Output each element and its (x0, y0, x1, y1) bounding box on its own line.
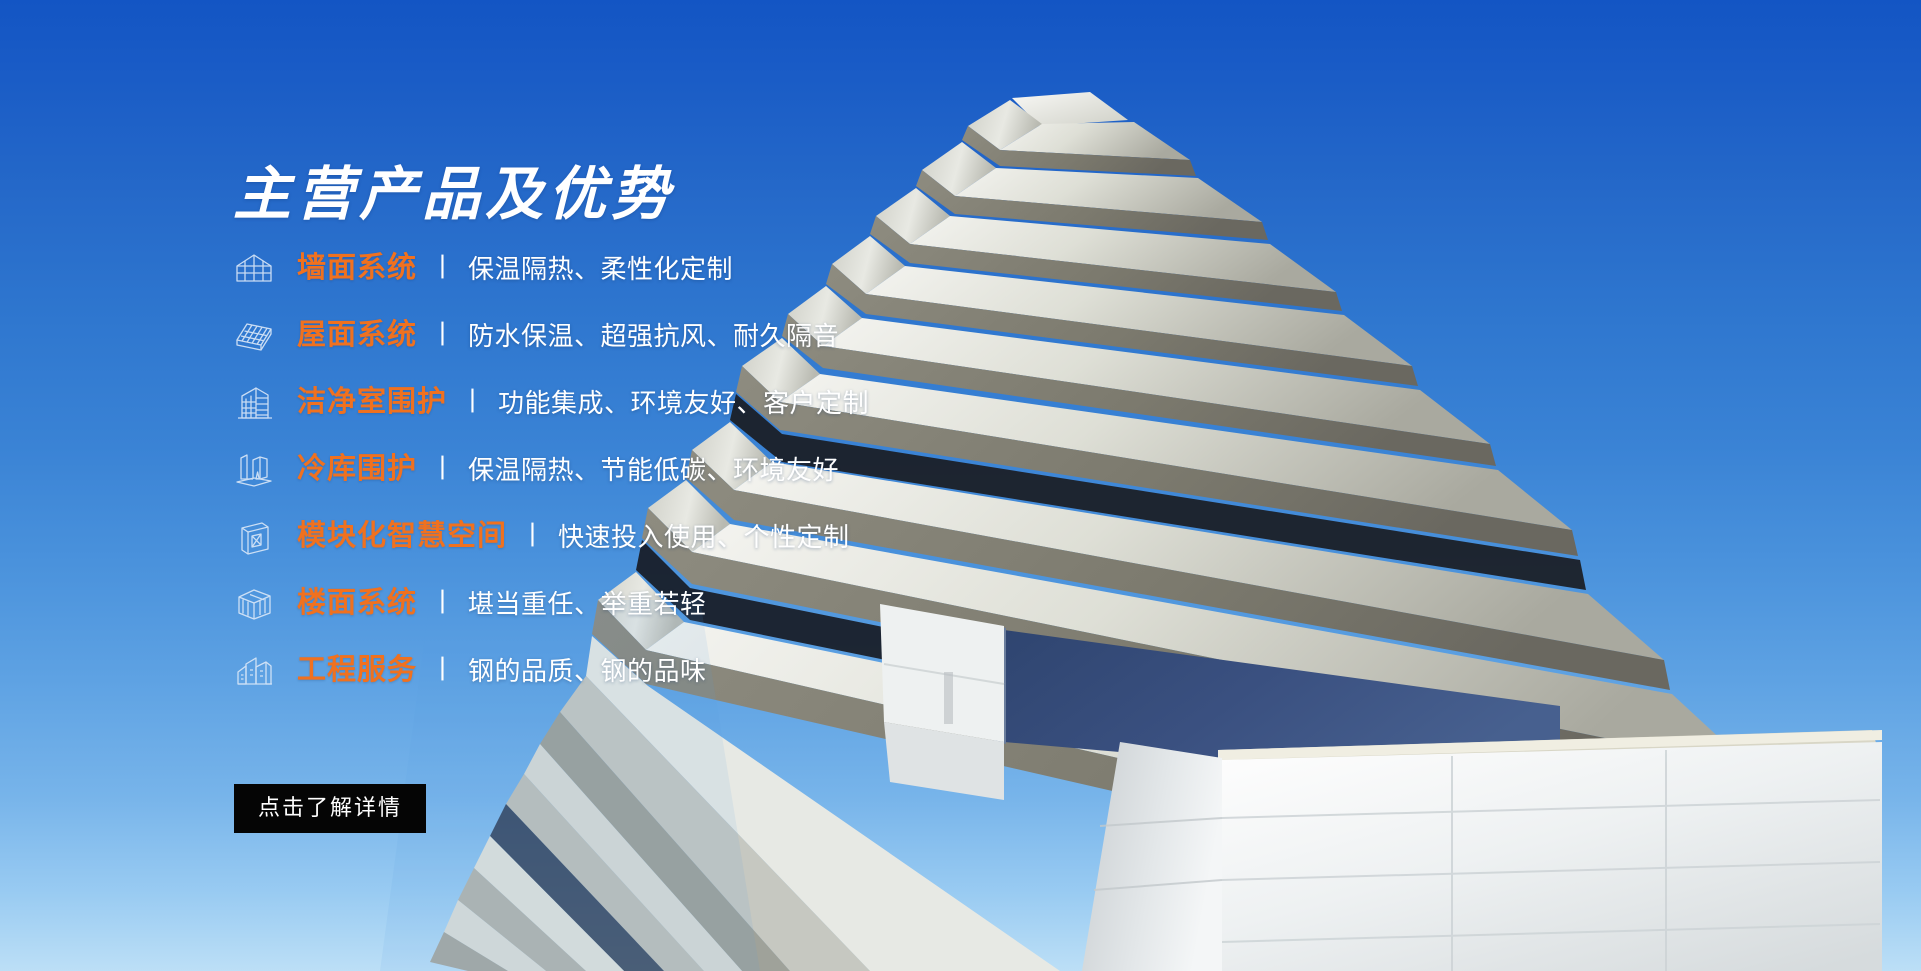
product-name: 冷库围护 (297, 455, 417, 484)
hero-banner: 主营产品及优势 墙面系统 丨 保温隔热、柔性化定制 (0, 0, 1921, 971)
separator: 丨 (464, 390, 482, 415)
product-name: 工程服务 (297, 656, 417, 685)
list-item[interactable]: 洁净室围护 丨 功能集成、环境友好、客户定制 (233, 377, 1153, 428)
factory-service-icon (233, 650, 275, 692)
list-item[interactable]: 冷库围护 丨 保温隔热、节能低碳、环境友好 (233, 444, 1153, 495)
product-name: 楼面系统 (297, 589, 417, 618)
product-description: 钢的品质、钢的品味 (468, 658, 707, 684)
product-description: 保温隔热、节能低碳、环境友好 (468, 457, 839, 483)
cold-storage-icon (233, 449, 275, 491)
product-name: 模块化智慧空间 (297, 522, 507, 551)
wall-panel-icon (233, 248, 275, 290)
product-description: 功能集成、环境友好、客户定制 (498, 390, 869, 416)
product-list: 墙面系统 丨 保温隔热、柔性化定制 屋面系统 丨 防水保温、超强抗 (233, 243, 1153, 712)
list-item[interactable]: 工程服务 丨 钢的品质、钢的品味 (233, 645, 1153, 696)
separator: 丨 (434, 658, 452, 683)
separator: 丨 (434, 256, 452, 281)
list-item[interactable]: 模块化智慧空间 丨 快速投入使用、个性定制 (233, 511, 1153, 562)
cleanroom-building-icon (233, 382, 275, 424)
roof-panel-icon (233, 315, 275, 357)
learn-more-button[interactable]: 点击了解详情 (234, 784, 426, 833)
product-description: 防水保温、超强抗风、耐久隔音 (468, 323, 839, 349)
banner-content: 主营产品及优势 墙面系统 丨 保温隔热、柔性化定制 (233, 0, 1183, 971)
product-description: 快速投入使用、个性定制 (558, 524, 850, 550)
floor-deck-icon (233, 583, 275, 625)
list-item[interactable]: 楼面系统 丨 堪当重任、举重若轻 (233, 578, 1153, 629)
modular-cube-icon (233, 516, 275, 558)
product-name: 屋面系统 (297, 321, 417, 350)
product-description: 保温隔热、柔性化定制 (468, 256, 733, 282)
product-description: 堪当重任、举重若轻 (468, 591, 707, 617)
list-item[interactable]: 墙面系统 丨 保温隔热、柔性化定制 (233, 243, 1153, 294)
page-title: 主营产品及优势 (233, 166, 674, 224)
list-item[interactable]: 屋面系统 丨 防水保温、超强抗风、耐久隔音 (233, 310, 1153, 361)
separator: 丨 (434, 323, 452, 348)
separator: 丨 (434, 591, 452, 616)
product-name: 墙面系统 (297, 254, 417, 283)
product-name: 洁净室围护 (297, 388, 447, 417)
separator: 丨 (524, 524, 542, 549)
separator: 丨 (434, 457, 452, 482)
